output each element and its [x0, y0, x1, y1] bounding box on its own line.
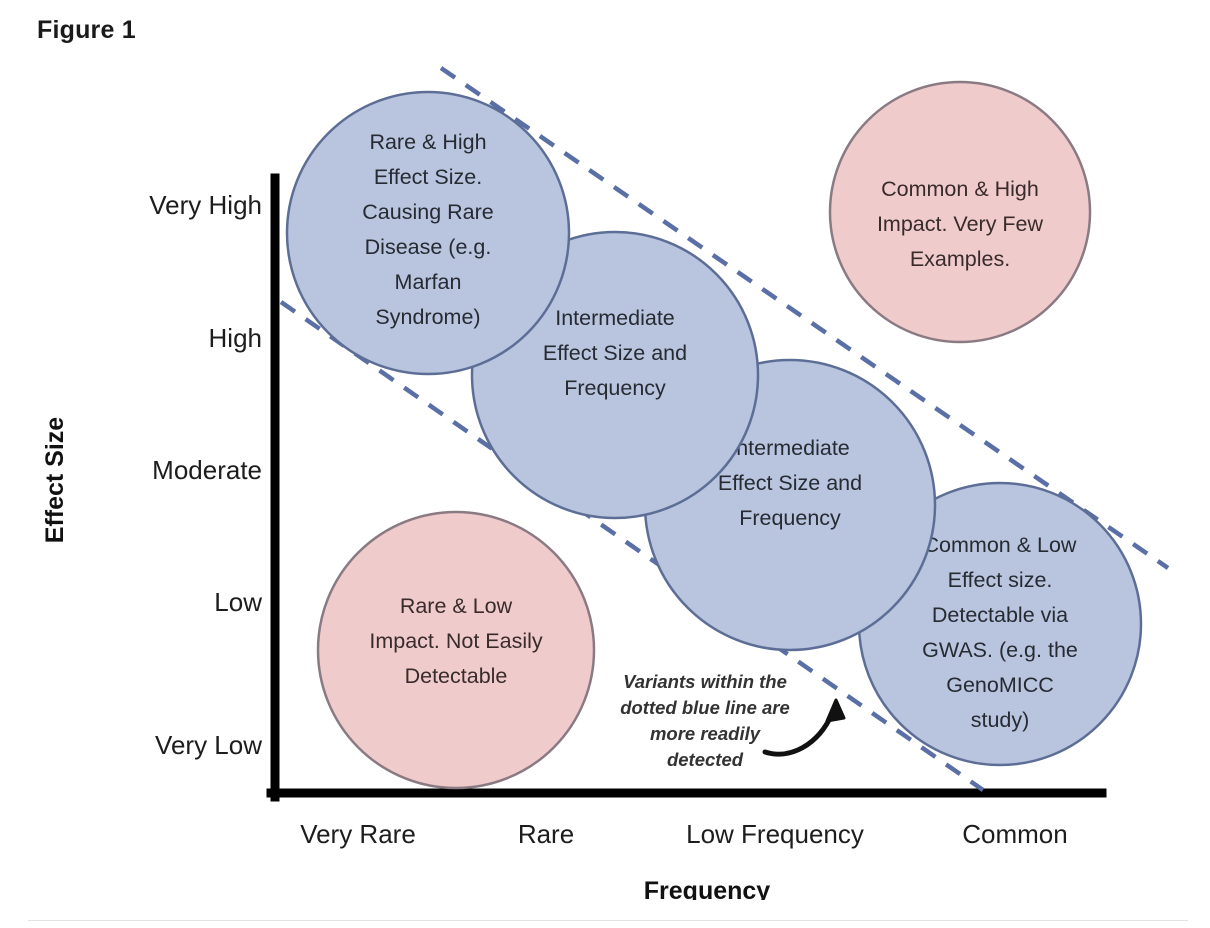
bubble-intermediate-upper-line-2: Frequency [564, 376, 666, 400]
y-axis-tick-labels: Very High High Moderate Low Very Low [149, 190, 262, 760]
y-axis-title: Effect Size [41, 417, 69, 544]
curved-arrow-head-icon [827, 700, 844, 721]
bubble-intermediate-lower-line-2: Frequency [739, 506, 841, 530]
y-tick-moderate: Moderate [152, 455, 262, 485]
bubble-rare-high-line-2: Causing Rare [362, 200, 493, 224]
x-tick-rare: Rare [518, 819, 574, 849]
bubble-intermediate-upper-line-0: Intermediate [555, 306, 675, 330]
bubble-common-high-line-1: Impact. Very Few [877, 212, 1044, 236]
bubble-common-low-line-0: Common & Low [924, 533, 1077, 557]
bubble-rare-low-line-2: Detectable [405, 664, 508, 688]
bubble-common-low-line-1: Effect size. [948, 568, 1053, 592]
x-axis-title: Frequency [644, 877, 771, 900]
bubble-rare-high-line-5: Syndrome) [375, 305, 480, 329]
bubble-common-high[interactable]: Common & High Impact. Very Few Examples. [830, 82, 1090, 342]
x-axis-tick-labels: Very Rare Rare Low Frequency Common [300, 819, 1068, 849]
y-tick-high: High [209, 323, 262, 353]
bubble-intermediate-lower-line-0: Intermediate [730, 436, 850, 460]
bubble-rare-high-line-1: Effect Size. [374, 165, 482, 189]
x-tick-very-rare: Very Rare [300, 819, 416, 849]
bottom-divider [28, 920, 1188, 921]
y-tick-very-low: Very Low [155, 730, 262, 760]
bubble-rare-low-line-1: Impact. Not Easily [369, 629, 542, 653]
bubble-rare-high-line-0: Rare & High [369, 130, 486, 154]
bubble-common-low-line-3: GWAS. (e.g. the [922, 638, 1078, 662]
bubble-common-high-line-2: Examples. [910, 247, 1010, 271]
bubble-common-low-line-2: Detectable via [932, 603, 1068, 627]
bubble-rare-high[interactable]: Rare & High Effect Size. Causing Rare Di… [287, 92, 569, 374]
annotation-line-0: Variants within the [623, 671, 787, 692]
annotation-line-3: detected [667, 749, 744, 770]
annotation-line-1: dotted blue line are [620, 697, 790, 718]
annotation-group: Variants within the dotted blue line are… [620, 671, 844, 770]
bubble-common-low-line-4: GenoMICC [946, 673, 1054, 697]
x-tick-common: Common [962, 819, 1067, 849]
bubble-rare-high-line-4: Marfan [395, 270, 462, 294]
figure-container: Figure 1 Rare & Low Impact. Not Easily D… [0, 0, 1210, 928]
bubble-rare-low[interactable]: Rare & Low Impact. Not Easily Detectable [318, 512, 594, 788]
effect-size-frequency-plot: Rare & Low Impact. Not Easily Detectable… [0, 0, 1210, 900]
bubble-intermediate-upper-line-1: Effect Size and [543, 341, 687, 365]
bubble-rare-high-line-3: Disease (e.g. [365, 235, 492, 259]
bubble-common-high-line-0: Common & High [881, 177, 1039, 201]
bubble-rare-low-line-0: Rare & Low [400, 594, 513, 618]
curved-arrow-icon [765, 714, 832, 754]
bubble-intermediate-lower-line-1: Effect Size and [718, 471, 862, 495]
y-tick-very-high: Very High [149, 190, 262, 220]
bubble-common-low-line-5: study) [971, 708, 1030, 732]
x-tick-low-frequency: Low Frequency [686, 819, 864, 849]
y-tick-low: Low [214, 587, 262, 617]
annotation-line-2: more readily [650, 723, 762, 744]
